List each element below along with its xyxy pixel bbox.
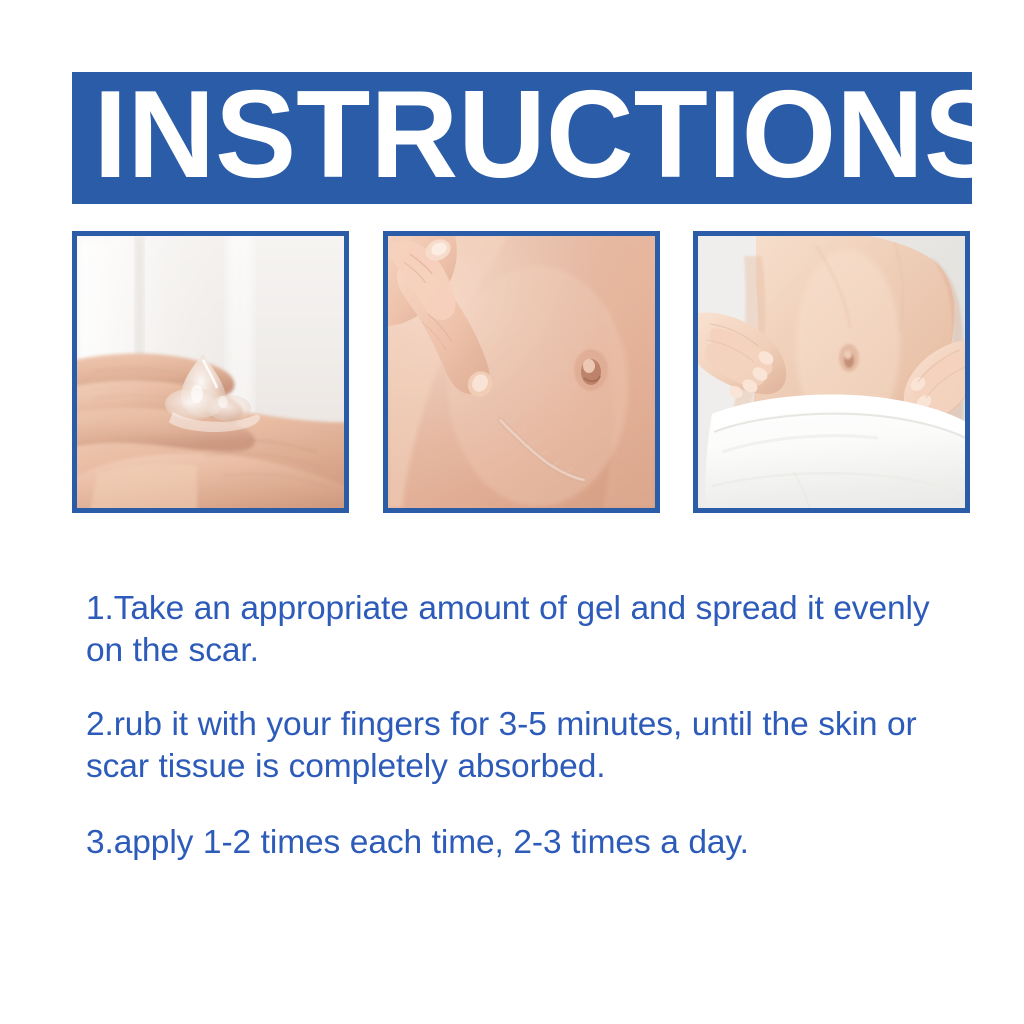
instructions-list: 1.Take an appropriate amount of gel and … [86, 588, 972, 864]
scar-on-abdomen-photo [388, 236, 655, 508]
instructions-header-banner: INSTRUCTIONS [72, 72, 972, 204]
scar-on-abdomen-illustration [388, 236, 655, 508]
instruction-step-1: 1.Take an appropriate amount of gel and … [86, 588, 972, 672]
gel-in-palm-photo [77, 236, 344, 508]
photo-panel-gel-in-palm [72, 231, 349, 513]
smooth-abdomen-illustration [698, 236, 965, 508]
instruction-step-2: 2.rub it with your fingers for 3-5 minut… [86, 704, 972, 788]
instruction-photo-strip [72, 231, 970, 515]
smooth-abdomen-photo [698, 236, 965, 508]
page-title: INSTRUCTIONS [72, 73, 972, 203]
photo-panel-scar-on-abdomen [383, 231, 660, 513]
gel-in-palm-illustration [77, 236, 344, 508]
photo-panel-smooth-abdomen [693, 231, 970, 513]
instruction-step-3: 3.apply 1-2 times each time, 2-3 times a… [86, 822, 972, 864]
